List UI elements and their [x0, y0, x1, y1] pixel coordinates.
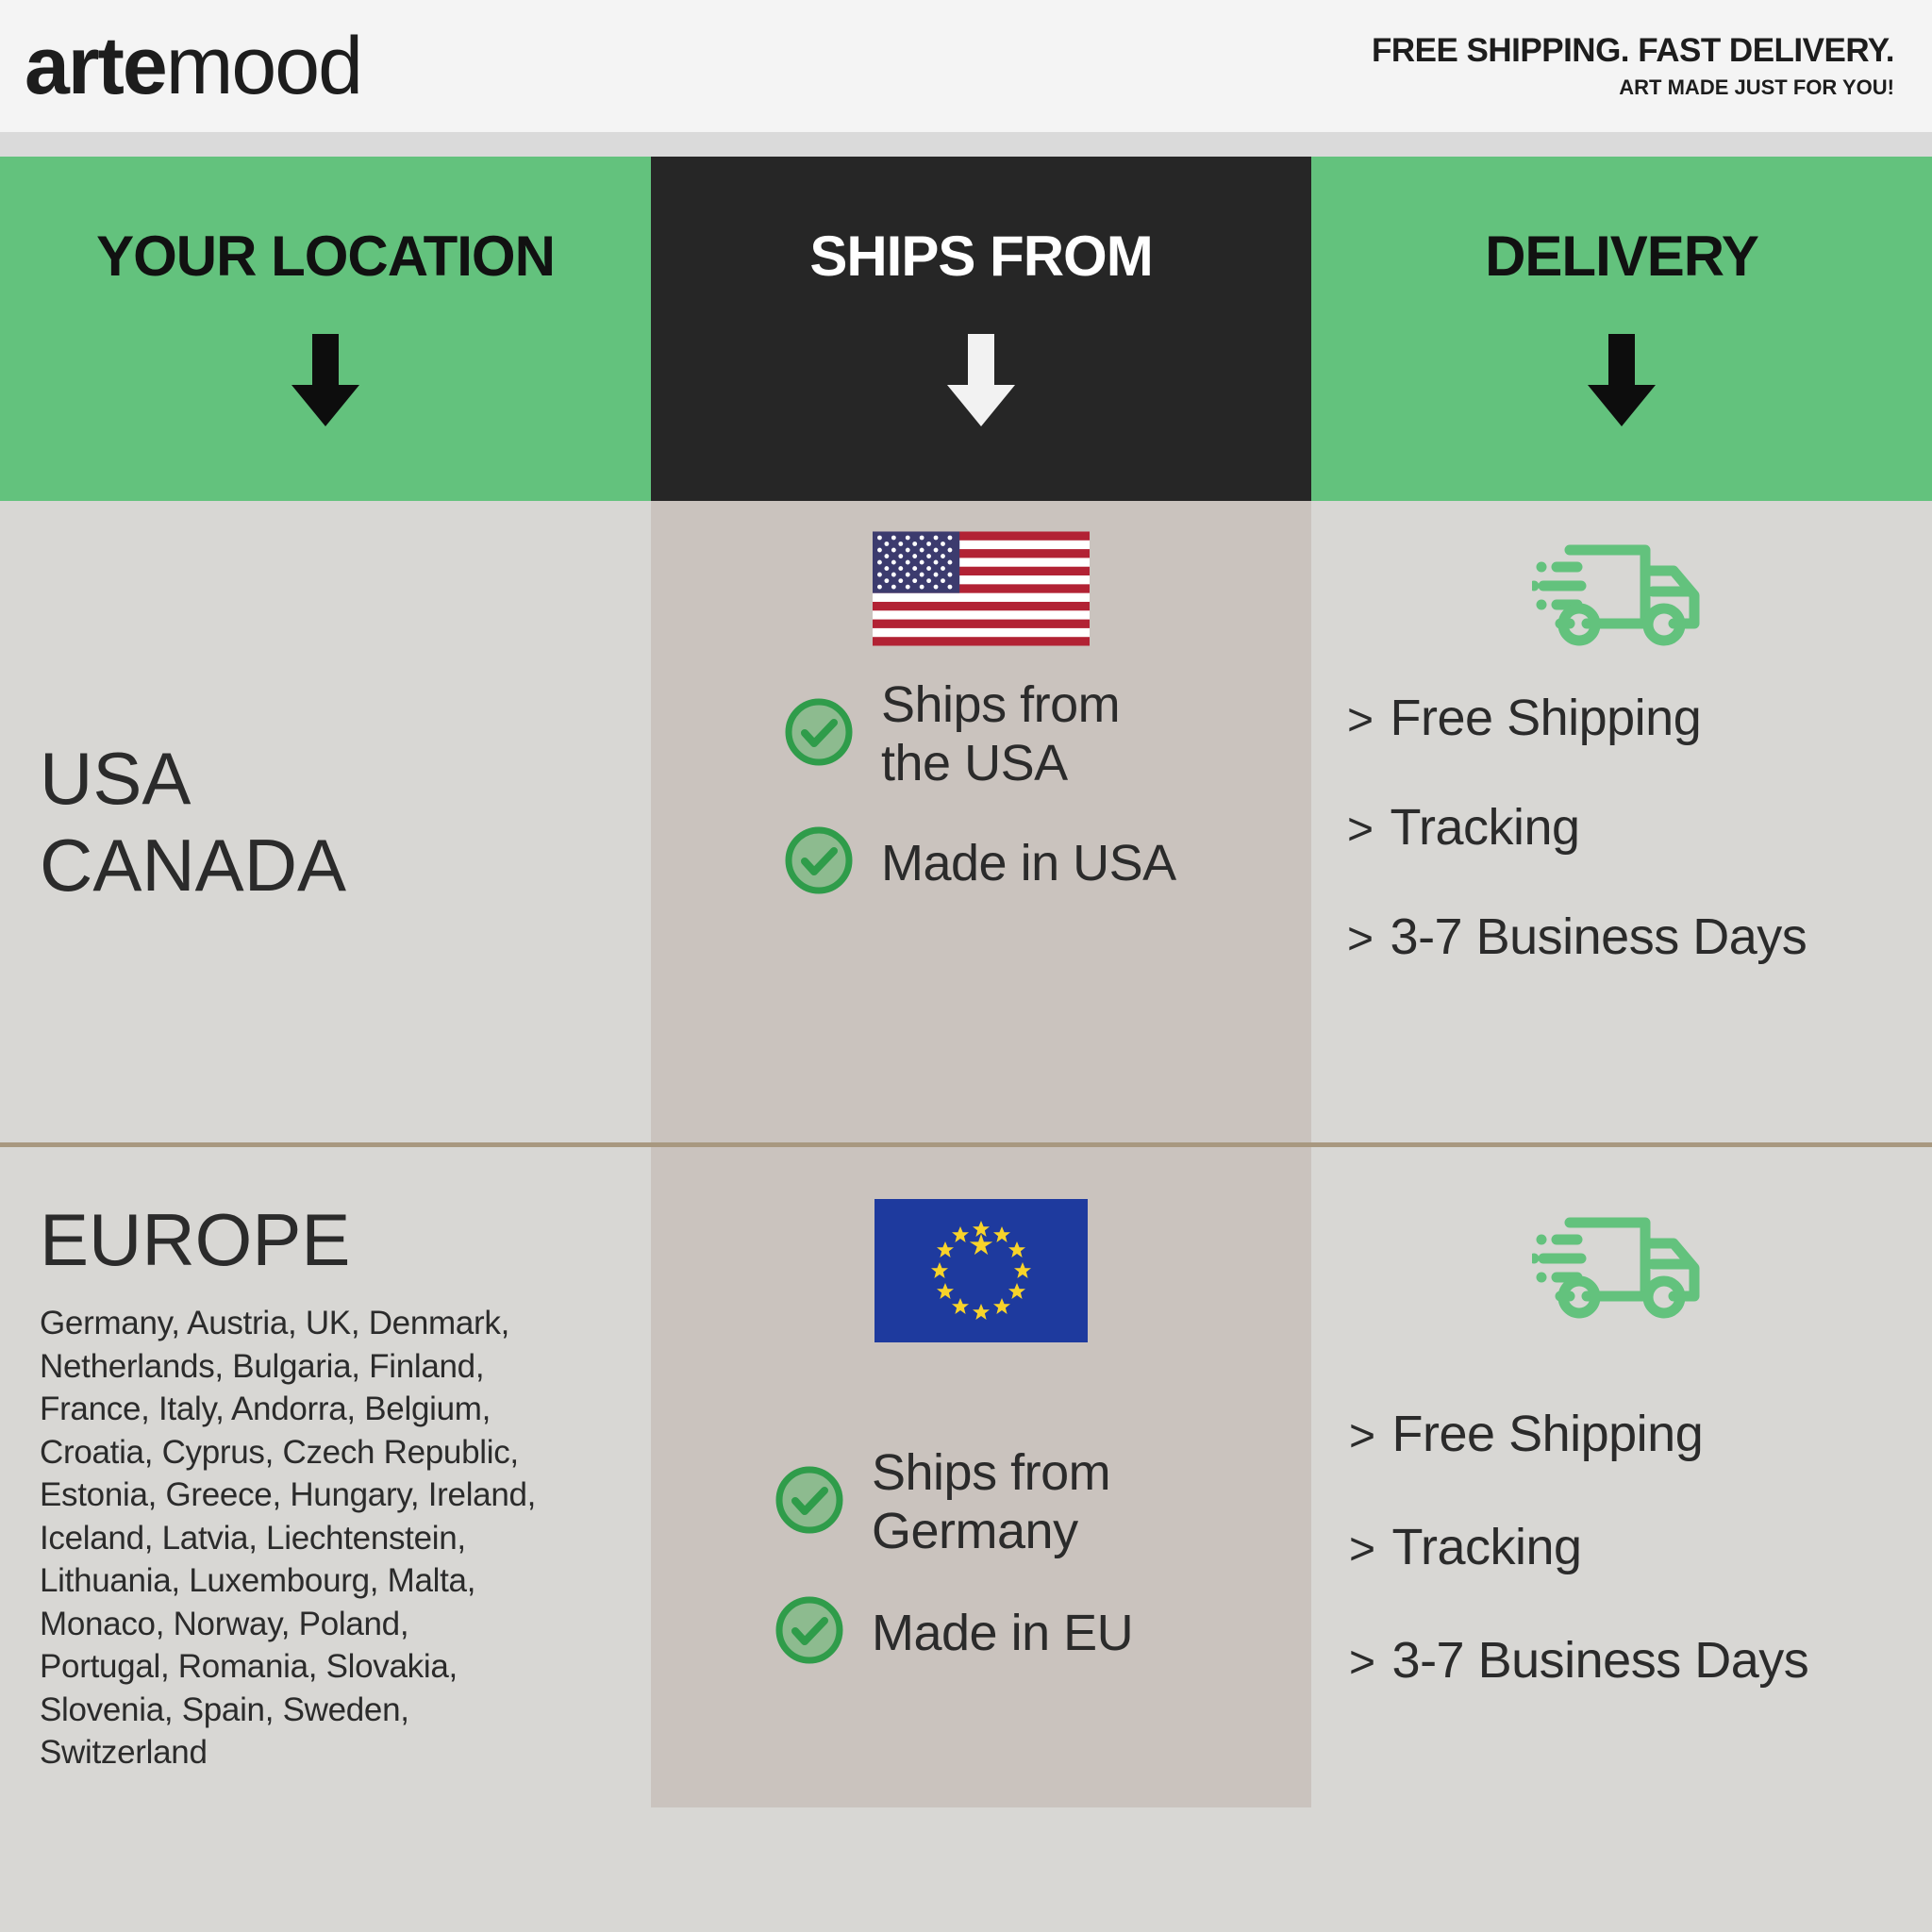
- list-item: > Free Shipping: [1347, 689, 1932, 747]
- location-title-europe: EUROPE: [40, 1196, 628, 1283]
- list-item: > Tracking: [1347, 798, 1932, 857]
- delivery-label: 3-7 Business Days: [1391, 908, 1807, 966]
- delivery-label: Tracking: [1392, 1518, 1582, 1576]
- check-circle-icon: [783, 696, 855, 773]
- delivery-label: 3-7 Business Days: [1392, 1631, 1809, 1690]
- delivery-list-usa: > Free Shipping > Tracking > 3-7 Busines…: [1311, 689, 1932, 1017]
- ships-checklist-usa: Ships from the USA Made in USA: [651, 675, 1311, 933]
- chevron-right-icon: >: [1347, 913, 1374, 965]
- chevron-right-icon: >: [1347, 694, 1374, 746]
- country-line: Iceland, Latvia, Liechtenstein,: [40, 1517, 628, 1560]
- location-cell-usa: USA CANADA: [0, 501, 651, 1142]
- logo-bold-part: arte: [25, 21, 166, 111]
- column-header-ships-label: SHIPS FROM: [809, 224, 1152, 289]
- country-line: Croatia, Cyprus, Czech Republic,: [40, 1431, 628, 1474]
- list-item: > Free Shipping: [1349, 1405, 1932, 1463]
- check-label-line: Ships from: [872, 1443, 1110, 1502]
- check-label-line: the USA: [881, 734, 1120, 792]
- check-circle-icon: [774, 1594, 845, 1671]
- country-line: Netherlands, Bulgaria, Finland,: [40, 1345, 628, 1389]
- delivery-cell-europe: > Free Shipping > Tracking > 3-7 Busines…: [1311, 1147, 1932, 1807]
- chevron-right-icon: >: [1349, 1410, 1375, 1462]
- country-line: France, Italy, Andorra, Belgium,: [40, 1388, 628, 1431]
- location-title-usa: USA CANADA: [40, 735, 628, 908]
- delivery-cell-usa: > Free Shipping > Tracking > 3-7 Busines…: [1311, 501, 1932, 1142]
- check-item: Made in EU: [774, 1594, 1292, 1671]
- check-circle-icon: [783, 824, 855, 901]
- location-cell-europe: EUROPE Germany, Austria, UK, Denmark, Ne…: [0, 1147, 651, 1807]
- chevron-right-icon: >: [1347, 804, 1374, 856]
- column-header-ships-from: SHIPS FROM: [651, 157, 1311, 501]
- check-label: Ships from the USA: [881, 675, 1120, 792]
- europe-country-list: Germany, Austria, UK, Denmark, Netherlan…: [40, 1302, 628, 1774]
- country-line: Portugal, Romania, Slovakia,: [40, 1645, 628, 1689]
- arrow-down-icon: [275, 332, 376, 435]
- check-label-line: Ships from: [881, 675, 1120, 734]
- column-header-your-location: YOUR LOCATION: [0, 157, 651, 501]
- chevron-right-icon: >: [1349, 1637, 1375, 1689]
- check-item: Made in USA: [783, 824, 1292, 901]
- table-row: USA CANADA: [0, 501, 1932, 1142]
- check-item: Ships from Germany: [774, 1443, 1292, 1560]
- country-line: Lithuania, Luxembourg, Malta,: [40, 1559, 628, 1603]
- location-line: CANADA: [40, 822, 628, 908]
- ships-from-content-usa: Ships from the USA Made in USA: [651, 501, 1311, 1142]
- list-item: > 3-7 Business Days: [1347, 908, 1932, 966]
- check-label: Made in EU: [872, 1604, 1133, 1662]
- country-line: Monaco, Norway, Poland,: [40, 1603, 628, 1646]
- ships-checklist-europe: Ships from Germany Made in EU: [651, 1443, 1311, 1703]
- country-line: Estonia, Greece, Hungary, Ireland,: [40, 1474, 628, 1517]
- delivery-truck-icon: [1532, 533, 1711, 651]
- ships-from-cell-usa: Ships from the USA Made in USA: [651, 501, 1311, 1142]
- location-content-europe: EUROPE Germany, Austria, UK, Denmark, Ne…: [0, 1147, 651, 1807]
- delivery-list-europe: > Free Shipping > Tracking > 3-7 Busines…: [1311, 1405, 1932, 1740]
- arrow-down-icon: [1571, 332, 1673, 435]
- delivery-label: Tracking: [1391, 798, 1580, 857]
- check-label-line: Germany: [872, 1502, 1110, 1560]
- delivery-label: Free Shipping: [1391, 689, 1702, 747]
- list-item: > 3-7 Business Days: [1349, 1631, 1932, 1690]
- delivery-truck-icon: [1532, 1206, 1711, 1324]
- location-line: USA: [40, 735, 628, 822]
- chevron-right-icon: >: [1349, 1524, 1375, 1575]
- delivery-label: Free Shipping: [1392, 1405, 1704, 1463]
- country-line: Slovenia, Spain, Sweden,: [40, 1689, 628, 1732]
- list-item: > Tracking: [1349, 1518, 1932, 1576]
- column-header-delivery-label: DELIVERY: [1485, 224, 1758, 289]
- tagline-primary: FREE SHIPPING. FAST DELIVERY.: [1372, 32, 1894, 70]
- column-header-band: YOUR LOCATION SHIPS FROM DELIVERY: [0, 157, 1932, 501]
- location-content-usa: USA CANADA: [0, 501, 651, 1142]
- ships-from-cell-europe: Ships from Germany Made in EU: [651, 1147, 1311, 1807]
- country-line: Switzerland: [40, 1731, 628, 1774]
- brand-header: artemood FREE SHIPPING. FAST DELIVERY. A…: [0, 0, 1932, 132]
- check-item: Ships from the USA: [783, 675, 1292, 792]
- eu-flag-icon: [874, 1199, 1088, 1347]
- country-line: Germany, Austria, UK, Denmark,: [40, 1302, 628, 1345]
- check-label: Ships from Germany: [872, 1443, 1110, 1560]
- column-header-location-label: YOUR LOCATION: [96, 224, 555, 289]
- delivery-content-europe: > Free Shipping > Tracking > 3-7 Busines…: [1311, 1147, 1932, 1807]
- usa-flag-icon: [873, 529, 1090, 653]
- ships-from-content-europe: Ships from Germany Made in EU: [651, 1147, 1311, 1807]
- arrow-down-icon: [930, 332, 1032, 435]
- check-label: Made in USA: [881, 834, 1176, 892]
- column-header-delivery: DELIVERY: [1311, 157, 1932, 501]
- brand-logo[interactable]: artemood: [25, 25, 361, 107]
- logo-regular-part: mood: [166, 21, 361, 111]
- delivery-content-usa: > Free Shipping > Tracking > 3-7 Busines…: [1311, 501, 1932, 1142]
- check-circle-icon: [774, 1464, 845, 1541]
- header-separator: [0, 132, 1932, 157]
- tagline-secondary: ART MADE JUST FOR YOU!: [1372, 75, 1894, 100]
- table-row: EUROPE Germany, Austria, UK, Denmark, Ne…: [0, 1147, 1932, 1807]
- tagline-group: FREE SHIPPING. FAST DELIVERY. ART MADE J…: [1372, 32, 1907, 100]
